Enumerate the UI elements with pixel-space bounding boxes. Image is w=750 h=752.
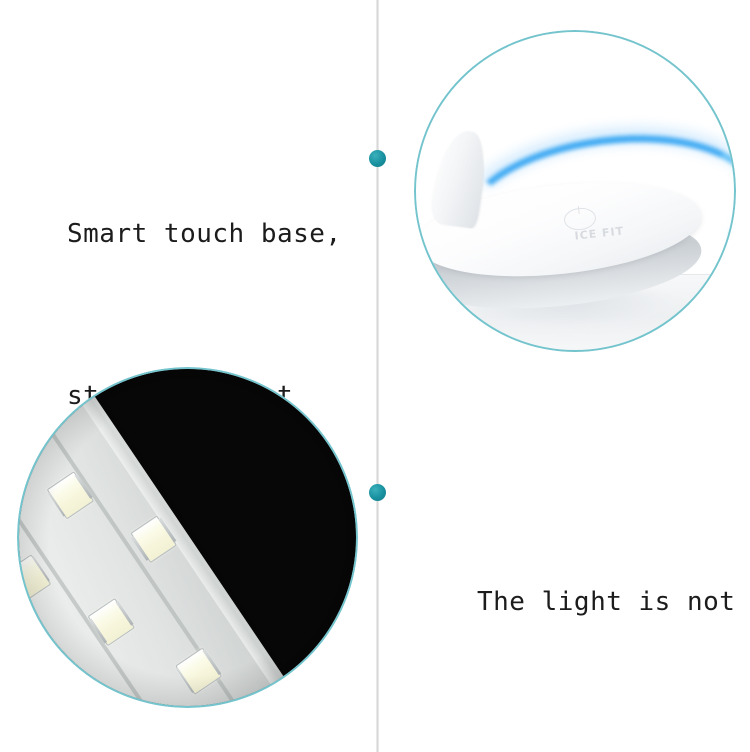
led-chip [45,681,92,706]
led-chip [175,648,222,696]
lamp-scene: ICE FIT [416,32,734,350]
feature-caption-non-glare-light: The light is not glare, the light is str… [477,467,735,752]
led-pcb-board [19,369,331,706]
timeline-node-top [369,150,386,167]
led-strip-photo-circle [17,367,358,708]
caption-line: Smart touch base, [67,207,342,261]
led-strip-photo-inner [19,369,356,706]
caption-line: glare, the light [477,737,735,752]
timeline-node-bottom [369,484,386,501]
led-chip [19,369,53,393]
caption-line: The light is not [477,575,735,629]
infographic-canvas: Smart touch base, stable and not easy to… [0,0,750,752]
led-chip [47,471,94,519]
led-scene [19,369,356,706]
vertical-divider [376,0,379,752]
lamp-base-photo-inner: ICE FIT [416,32,734,350]
led-chip [88,598,135,646]
lamp-base-photo-circle: ICE FIT [414,30,736,352]
